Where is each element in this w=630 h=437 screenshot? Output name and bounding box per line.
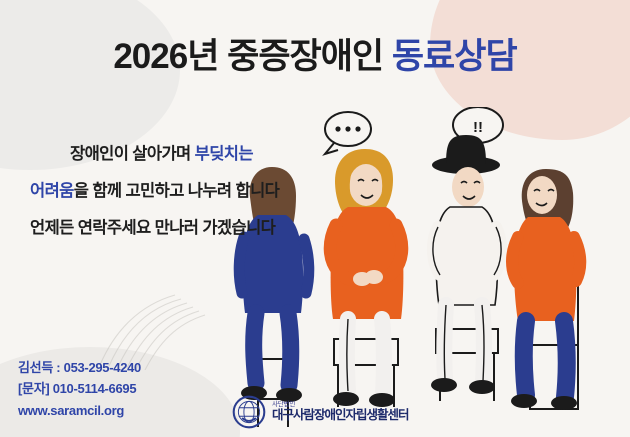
organization-logo: 사단법인 대구사람장애인자립생활센터 xyxy=(232,395,409,429)
person-orange-dress xyxy=(330,149,403,407)
speech-exclaim-text: !! xyxy=(473,119,483,136)
globe-hands-logo-icon xyxy=(232,395,266,429)
title-accent-text: 동료상담 xyxy=(392,37,517,76)
illustration-group-counseling: !! xyxy=(230,107,630,437)
body-line-3-pre: 언제든 연락주세요 만나러 가겠습니다 xyxy=(30,219,275,237)
speech-bubble-dots xyxy=(325,112,371,154)
contact-sms: [문자] 010-5114-6695 xyxy=(18,378,141,399)
body-line-2: 어려움을 함께 고민하고 나누려 합니다 xyxy=(30,177,279,201)
body-line-1: 장애인이 살아가며 부딪치는 xyxy=(30,140,279,164)
body-line-2-post: 을 함께 고민하고 나누려 합니다 xyxy=(74,182,279,200)
body-line-2-highlight: 어려움 xyxy=(30,182,74,200)
logo-main-text: 대구사람장애인자립생활센터 xyxy=(272,409,409,422)
contact-website[interactable]: www.saramcil.org xyxy=(18,400,141,421)
contact-name-phone: 김선득 : 053-295-4240 xyxy=(18,357,141,378)
contact-block: 김선득 : 053-295-4240 [문자] 010-5114-6695 ww… xyxy=(18,357,141,421)
speech-dots xyxy=(335,126,360,131)
body-line-1-pre: 장애인이 살아가며 xyxy=(70,145,195,163)
person-with-hat xyxy=(431,135,501,401)
logo-text-block: 사단법인 대구사람장애인자립생활센터 xyxy=(272,402,409,422)
person-right-orange-top xyxy=(511,169,580,410)
poster-body-copy: 장애인이 살아가며 부딪치는 어려움을 함께 고민하고 나누려 합니다 언제든 … xyxy=(30,140,279,251)
title-main-text: 2026년 중증장애인 xyxy=(113,37,392,76)
body-line-3: 언제든 연락주세요 만나러 가겠습니다 xyxy=(30,214,279,238)
poster-title: 2026년 중증장애인 동료상담 xyxy=(0,28,630,79)
body-line-1-highlight: 부딪치는 xyxy=(195,145,253,163)
poster-canvas: 2026년 중증장애인 동료상담 장애인이 살아가며 부딪치는 어려움을 함께 … xyxy=(0,0,630,437)
